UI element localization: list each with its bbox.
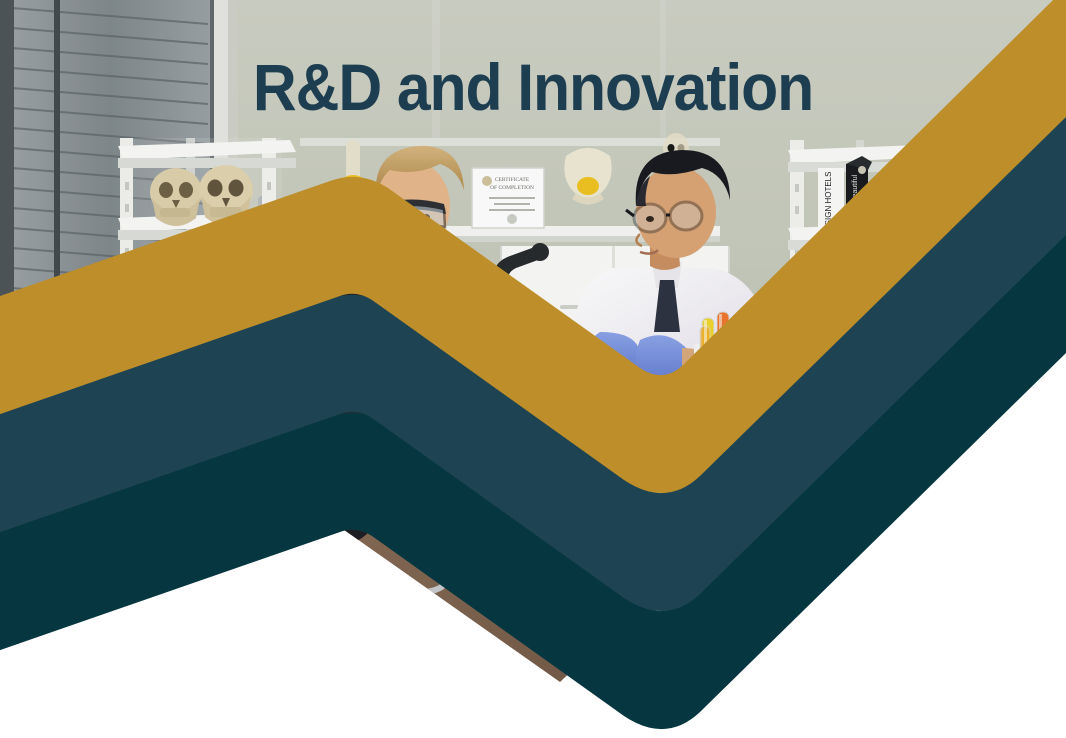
slide-canvas: LET IT BE [0, 0, 1066, 738]
page-title: R&D and Innovation [43, 52, 1024, 122]
shoe [300, 558, 358, 617]
